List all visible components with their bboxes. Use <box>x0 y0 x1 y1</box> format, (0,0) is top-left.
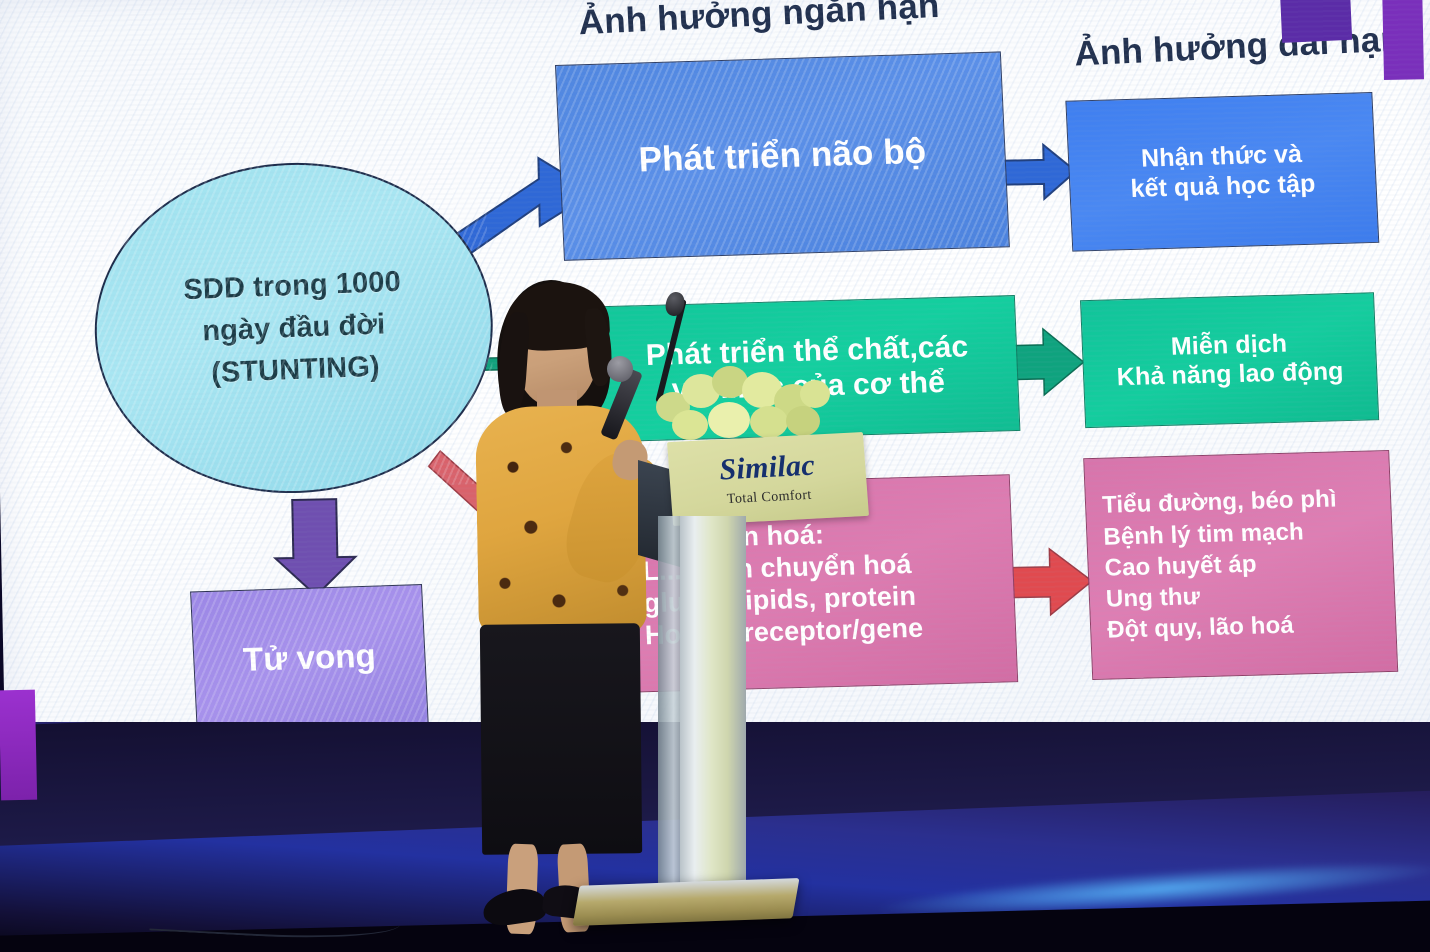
ellipse-line-3: (STUNTING) <box>210 346 380 395</box>
node-chronic-disease: Tiểu đường, béo phì Bệnh lý tim mạch Cao… <box>1083 450 1398 680</box>
photo-scene: Ảnh hưởng ngắn hạn Ảnh hưởng dài hạn <box>0 0 1430 952</box>
arrow-circle-to-death <box>274 499 356 597</box>
node-death: Tử vong <box>190 584 429 731</box>
node-brain-development: Phát triển não bộ <box>555 51 1010 260</box>
heading-short-term-effects: Ảnh hưởng ngắn hạn <box>578 0 941 43</box>
similac-tagline: Total Comfort <box>726 487 812 507</box>
chronic-line-3: Cao huyết áp <box>1104 550 1257 582</box>
arrow-brain-to-cognition <box>996 144 1076 200</box>
similac-wordmark: Similac <box>718 450 816 485</box>
presenter-shoe-left <box>481 886 547 928</box>
podium: Similac Total Comfort <box>640 420 900 940</box>
cognition-line-1: Nhận thức và <box>1140 140 1302 174</box>
slide-corner-block <box>1279 0 1353 43</box>
presenter-black-skirt <box>480 623 642 855</box>
ellipse-line-2: ngày đầu đời <box>202 303 386 352</box>
slide-edge-strip <box>1382 0 1424 80</box>
podium-base <box>573 878 800 926</box>
node-cognition-learning: Nhận thức và kết quả học tập <box>1065 92 1379 252</box>
chronic-line-4: Ung thư <box>1105 583 1200 614</box>
chronic-line-2: Bệnh lý tim mạch <box>1103 518 1304 552</box>
stage-purple-accent <box>0 690 37 801</box>
heading-long-term-effects: Ảnh hưởng dài hạn <box>1074 19 1403 74</box>
immunity-line-1: Miễn dịch <box>1170 329 1287 362</box>
death-line-1: Tử vong <box>242 636 377 679</box>
arrow-metabolic-to-chronic <box>1007 548 1092 616</box>
podium-brand-sign: Similac Total Comfort <box>667 432 869 526</box>
node-immunity-labour: Miễn dịch Khả năng lao động <box>1080 292 1379 428</box>
immunity-line-2: Khả năng lao động <box>1116 357 1344 393</box>
cognition-line-2: kết quả học tập <box>1130 169 1316 204</box>
podium-column <box>680 516 746 900</box>
brain-line-1: Phát triển não bộ <box>638 131 927 181</box>
chronic-line-1: Tiểu đường, béo phì <box>1102 486 1338 521</box>
node-sdd-1000-days: SDD trong 1000 ngày đầu đời (STUNTING) <box>88 155 499 500</box>
chronic-line-5: Đột quy, lão hoá <box>1107 612 1295 645</box>
